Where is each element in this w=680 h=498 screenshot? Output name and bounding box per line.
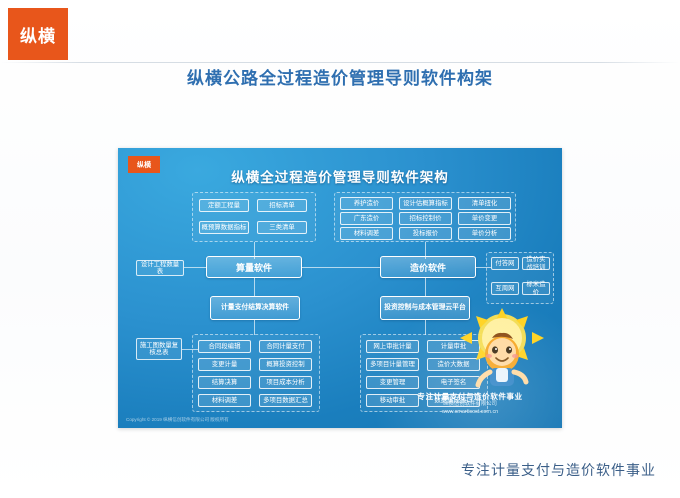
connector-main-left-right	[302, 267, 380, 268]
diagram-copyright: Copyright © 2019 纵横信创软件有限公司 版权所有	[126, 417, 229, 423]
connector-midright-down	[425, 320, 426, 335]
box-top-right-4[interactable]: 广东造价	[340, 212, 393, 225]
connector-main-right-to-side	[476, 267, 491, 268]
main-box-right[interactable]: 造价软件	[380, 256, 476, 278]
box-bottom-right-5[interactable]: 变更管理	[366, 376, 419, 389]
box-bottom-left-3[interactable]: 变更计量	[198, 358, 251, 371]
company-name: 纵横信创软件有限公司	[390, 400, 550, 408]
diagram-company-info: 纵横信创软件有限公司 www.smarticost.com.cn	[390, 400, 550, 416]
box-top-right-7[interactable]: 材料调差	[340, 227, 393, 240]
brand-logo: 纵横	[8, 8, 68, 60]
box-side-right-4[interactable]: 标米造价	[522, 282, 550, 295]
connector-leftinput-to-main	[184, 267, 206, 268]
box-bottom-left-7[interactable]: 材料调差	[198, 394, 251, 407]
box-top-left-4[interactable]: 三类清单	[257, 221, 307, 234]
mid-box-left[interactable]: 计量支付结算决算软件	[210, 296, 300, 320]
box-bottom-left-6[interactable]: 项目成本分析	[259, 376, 312, 389]
header-divider	[0, 62, 680, 63]
brand-logo-text: 纵横	[20, 22, 56, 47]
box-left-input[interactable]: 设计工程数量表	[136, 260, 184, 276]
page-title: 纵横公路全过程造价管理导则软件构架	[0, 64, 680, 89]
box-top-right-1[interactable]: 养护造价	[340, 197, 393, 210]
box-side-right-1[interactable]: 付答网	[491, 257, 519, 270]
box-top-right-2[interactable]: 设计估概算指标	[399, 197, 452, 210]
box-side-right-3[interactable]: 互周网	[491, 282, 519, 295]
box-left-input2[interactable]: 施工图数量复核总表	[136, 338, 182, 360]
box-bottom-left-5[interactable]: 结算决算	[198, 376, 251, 389]
box-top-right-5[interactable]: 招标控制价	[399, 212, 452, 225]
box-bottom-left-2[interactable]: 合同计量支付	[259, 340, 312, 353]
box-top-right-6[interactable]: 单价变更	[458, 212, 511, 225]
box-bottom-left-8[interactable]: 多项目数据汇总	[259, 394, 312, 407]
connector-main-right-down	[425, 278, 426, 296]
connector-midleft-down	[254, 320, 255, 335]
box-top-right-3[interactable]: 清单扭化	[458, 197, 511, 210]
box-top-left-3[interactable]: 概预算数据指标	[199, 221, 249, 234]
connector-leftinput2	[182, 349, 198, 350]
box-top-right-9[interactable]: 单价分析	[458, 227, 511, 240]
diagram-title: 纵横全过程造价管理导则软件架构	[118, 166, 562, 186]
box-bottom-left-1[interactable]: 合同段编辑	[198, 340, 251, 353]
box-bottom-left-4[interactable]: 概算投资控制	[259, 358, 312, 371]
box-top-left-1[interactable]: 定额工程量	[199, 199, 249, 212]
mascot-illustration	[456, 308, 552, 392]
company-website: www.smarticost.com.cn	[390, 408, 550, 416]
box-side-right-2[interactable]: 造价实战培训	[522, 257, 550, 270]
architecture-diagram: 纵横 纵横全过程造价管理导则软件架构 定额工程量 招标清单 概预算数据指标 三类…	[118, 148, 562, 428]
box-top-left-2[interactable]: 招标清单	[257, 199, 307, 212]
footer-slogan: 专注计量支付与造价软件事业	[461, 460, 656, 480]
box-top-right-8[interactable]: 投标报价	[399, 227, 452, 240]
box-bottom-right-1[interactable]: 网上审批计量	[366, 340, 419, 353]
main-box-left[interactable]: 算量软件	[206, 256, 302, 278]
box-bottom-right-3[interactable]: 多项目计量管理	[366, 358, 419, 371]
connector-main-left-down	[254, 278, 255, 296]
